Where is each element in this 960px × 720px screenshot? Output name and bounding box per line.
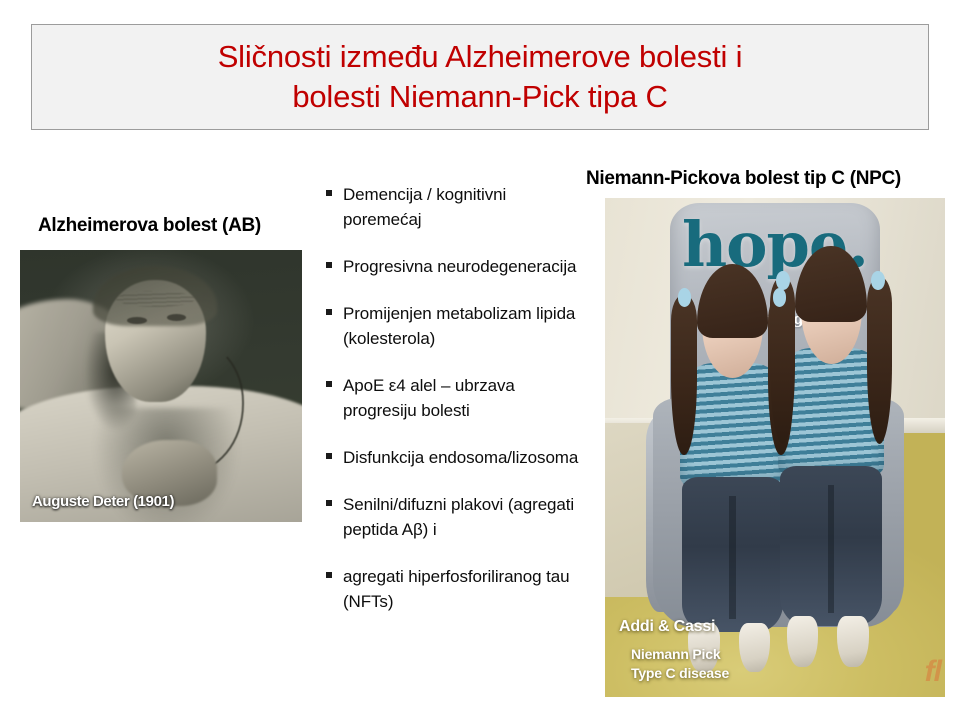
list-item-label: Progresivna neurodegeneracija [343,254,576,279]
shoe-right [739,623,771,673]
auguste-deter-caption: Auguste Deter (1901) [32,493,174,510]
list-item: ApoE ε4 alel – ubrzava progresiju bolest… [326,373,582,423]
shared-features-list: Demencija / kognitivni poremećaj Progres… [326,182,582,614]
list-item-label: Promijenjen metabolizam lipida (kolester… [343,301,582,351]
list-item: Promijenjen metabolizam lipida (kolester… [326,301,582,351]
auguste-deter-photo: Auguste Deter (1901) [20,250,302,522]
square-bullet-icon [326,309,332,315]
slide-title-box: Sličnosti između Alzheimerove bolesti i … [31,24,929,130]
list-item-label: Disfunkcija endosoma/lizosoma [343,445,578,470]
stock-photo-watermark: fl [925,655,941,689]
niemann-pick-section-heading: Niemann-Pickova bolest tip C (NPC) [586,168,901,190]
poster-caption-names: Addi & Cassi [619,618,729,636]
jeans-shape [780,466,881,626]
square-bullet-icon [326,500,332,506]
list-item: Disfunkcija endosoma/lizosoma [326,445,582,470]
girl-cassi-figure [778,348,883,667]
hair-bow-right [773,288,787,307]
shoe-right [837,616,869,667]
poster-caption-block: Addi & Cassi Niemann Pick Type C disease [619,618,729,683]
poster-caption-disease-line-2: Type C disease [631,664,729,683]
list-item: Senilni/difuzni plakovi (agregati peptid… [326,492,582,542]
jeans-shape [682,477,783,632]
list-item-label: agregati hiperfosforiliranog tau (NFTs) [343,564,582,614]
slide-title-line-2: bolesti Niemann-Pick tipa C [292,77,667,117]
list-item: agregati hiperfosforiliranog tau (NFTs) [326,564,582,614]
square-bullet-icon [326,572,332,578]
right-eye-shape [167,314,187,321]
hair-bow-left [776,271,790,290]
list-item: Progresivna neurodegeneracija [326,254,582,279]
pigtail-right [867,277,892,443]
hope-poster-photo: hope. it's in our genes. Addi & Cassi Ni… [605,198,945,697]
poster-caption-disease-line-1: Niemann Pick [631,645,729,664]
list-item-label: Senilni/difuzni plakovi (agregati peptid… [343,492,582,542]
alzheimer-section-heading: Alzheimerova bolest (AB) [38,215,261,237]
list-item-label: ApoE ε4 alel – ubrzava progresiju bolest… [343,373,582,423]
hope-headline: hope. [605,213,945,277]
shoe-left [787,616,819,667]
list-item: Demencija / kognitivni poremećaj [326,182,582,232]
list-item-label: Demencija / kognitivni poremećaj [343,182,582,232]
left-eye-shape [127,317,147,324]
square-bullet-icon [326,262,332,268]
square-bullet-icon [326,453,332,459]
brow-shape [116,291,195,307]
pigtail-left [671,295,696,456]
square-bullet-icon [326,190,332,196]
slide-title-line-1: Sličnosti između Alzheimerove bolesti i [218,37,743,77]
hair-bow-right [871,271,885,290]
square-bullet-icon [326,381,332,387]
